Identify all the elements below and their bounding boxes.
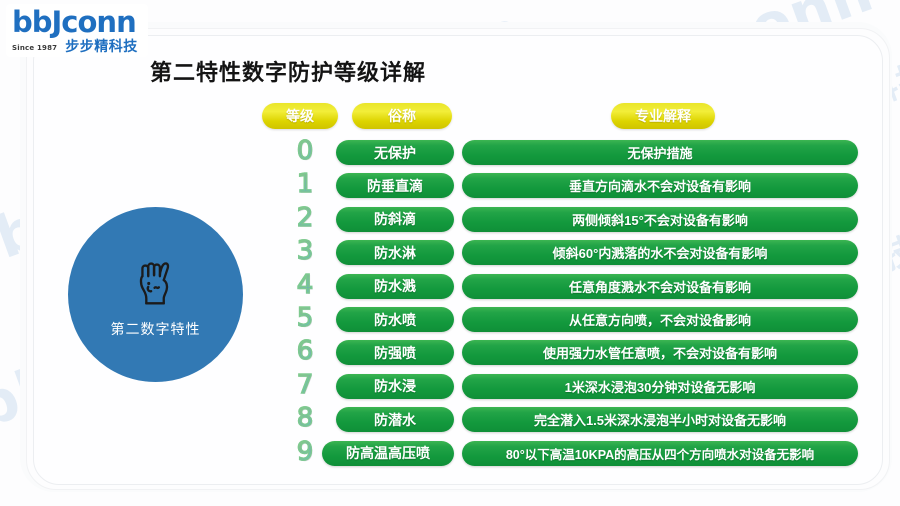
row-explanation-pill: 两侧倾斜15°不会对设备有影响 bbox=[462, 207, 858, 232]
row-explanation-pill: 无保护措施 bbox=[462, 140, 858, 165]
row-explanation-pill: 垂直方向滴水不会对设备有影响 bbox=[462, 173, 858, 198]
page-title: 第二特性数字防护等级详解 bbox=[150, 55, 426, 87]
column-header-common-name: 俗称 bbox=[352, 103, 452, 129]
row-explanation-pill: 1米深水浸泡30分钟对设备无影响 bbox=[462, 374, 858, 399]
row-common-name-pill: 无保护 bbox=[336, 140, 454, 165]
brand-since-text: Since 1987 bbox=[12, 44, 57, 53]
second-digit-badge: 第二数字特性 bbox=[68, 207, 243, 382]
row-explanation-pill: 完全潜入1.5米深水浸泡半小时对设备无影响 bbox=[462, 407, 858, 432]
row-common-name-pill: 防潜水 bbox=[336, 407, 454, 432]
column-header-explanation: 专业解释 bbox=[611, 103, 715, 129]
row-level-number: 3 bbox=[288, 239, 322, 264]
row-level-number: 1 bbox=[288, 172, 322, 197]
row-explanation-pill: 任意角度溅水不会对设备有影响 bbox=[462, 274, 858, 299]
row-common-name-pill: 防水喷 bbox=[336, 307, 454, 332]
brand-logo-subline: Since 1987 步步精科技 bbox=[12, 39, 138, 53]
row-level-number: 5 bbox=[288, 306, 322, 331]
column-header-level: 等级 bbox=[262, 103, 338, 129]
row-common-name-pill: 防高温高压喷 bbox=[322, 441, 454, 466]
brand-logo: bbJconn Since 1987 步步精科技 bbox=[6, 4, 148, 57]
row-level-number: 2 bbox=[288, 206, 322, 231]
row-common-name-pill: 防水浸 bbox=[336, 374, 454, 399]
row-common-name-pill: 防水淋 bbox=[336, 240, 454, 265]
second-digit-badge-label: 第二数字特性 bbox=[111, 319, 201, 339]
row-level-number: 0 bbox=[288, 139, 322, 164]
row-explanation-pill: 使用强力水管任意喷，不会对设备有影响 bbox=[462, 340, 858, 365]
row-explanation-pill: 从任意方向喷，不会对设备影响 bbox=[462, 307, 858, 332]
row-level-number: 8 bbox=[288, 406, 322, 431]
row-level-number: 6 bbox=[288, 339, 322, 364]
slide-canvas: bbJconn 步步精科技 bbJconn 步步精科技 bbJconn 步步精科… bbox=[0, 0, 900, 506]
brand-company-text: 步步精科技 bbox=[65, 39, 138, 53]
row-explanation-pill: 倾斜60°内溅落的水不会对设备有影响 bbox=[462, 240, 858, 265]
row-common-name-pill: 防强喷 bbox=[336, 340, 454, 365]
row-common-name-pill: 防垂直滴 bbox=[336, 173, 454, 198]
hand-two-fingers-icon bbox=[125, 251, 187, 313]
row-level-number: 4 bbox=[288, 273, 322, 298]
row-explanation-pill: 80°以下高温10KPA的高压从四个方向喷水对设备无影响 bbox=[462, 441, 858, 466]
row-common-name-pill: 防水溅 bbox=[336, 274, 454, 299]
row-level-number: 9 bbox=[288, 440, 322, 465]
row-level-number: 7 bbox=[288, 373, 322, 398]
brand-logo-text: bbJconn bbox=[12, 8, 138, 37]
row-common-name-pill: 防斜滴 bbox=[336, 207, 454, 232]
